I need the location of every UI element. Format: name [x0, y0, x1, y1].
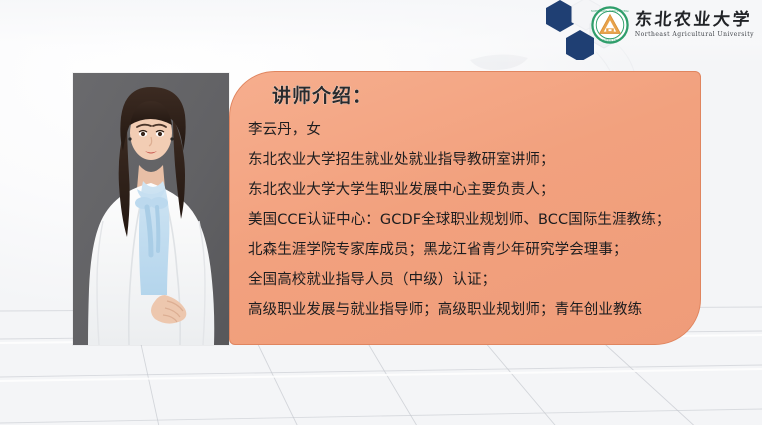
list-item: 东北农业大学招生就业处就业指导教研室讲师； [248, 145, 684, 175]
slide-canvas: NORTHEAST AGRICULTURAL 东北农业大学 东北农业大学 Nor… [0, 0, 762, 431]
instructor-intro-card: 讲师介绍： 李云丹，女 东北农业大学招生就业处就业指导教研室讲师； 东北农业大学… [229, 71, 701, 345]
list-item: 北森生涯学院专家库成员；黑龙江省青少年研究学会理事； [248, 235, 684, 265]
instructor-credentials-list: 李云丹，女 东北农业大学招生就业处就业指导教研室讲师； 东北农业大学大学生职业发… [248, 115, 684, 325]
university-logo-text: 东北农业大学 Northeast Agricultural University [635, 12, 754, 38]
bottom-white-bar [0, 425, 762, 431]
university-crest-icon: NORTHEAST AGRICULTURAL 东北农业大学 [591, 6, 629, 44]
instructor-portrait-photo [73, 73, 229, 345]
card-title: 讲师介绍： [272, 82, 684, 111]
list-item: 全国高校就业指导人员（中级）认证； [248, 265, 684, 295]
svg-text:NORTHEAST AGRICULTURAL: NORTHEAST AGRICULTURAL [591, 10, 629, 13]
list-item: 李云丹，女 [248, 115, 684, 145]
university-name-cn: 东北农业大学 [634, 12, 754, 29]
list-item: 高级职业发展与就业指导师；高级职业规划师；青年创业教练 [248, 295, 684, 325]
university-logo: NORTHEAST AGRICULTURAL 东北农业大学 东北农业大学 Nor… [591, 2, 754, 48]
university-name-en: Northeast Agricultural University [635, 32, 754, 38]
svg-text:东北农业大学: 东北农业大学 [603, 38, 618, 42]
list-item: 美国CCE认证中心：GCDF全球职业规划师、BCC国际生涯教练； [248, 205, 684, 235]
list-item: 东北农业大学大学生职业发展中心主要负责人； [248, 175, 684, 205]
